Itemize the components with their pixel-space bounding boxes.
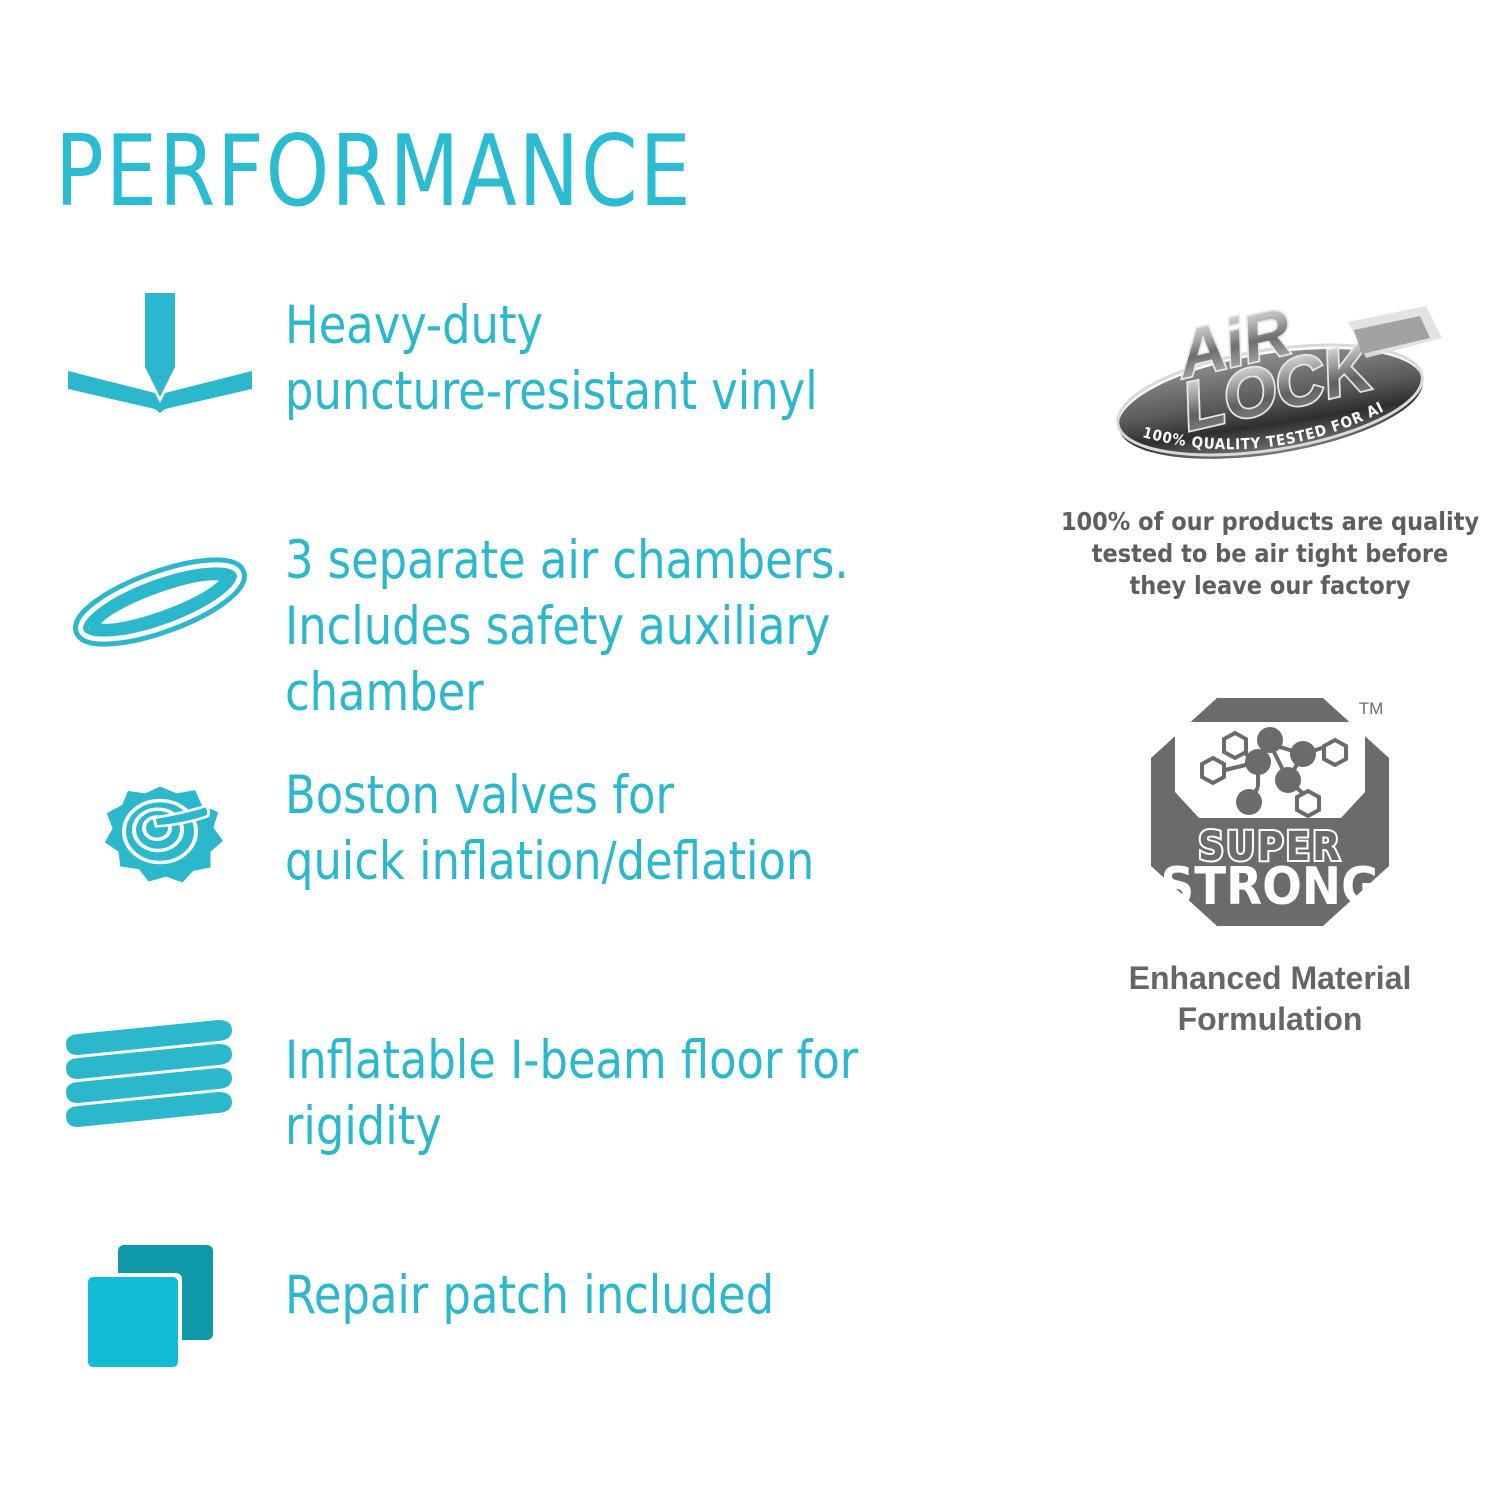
feature-label: 3 separate air chambers. Includes safety…: [285, 528, 1023, 726]
feature-label: Repair patch included: [285, 1263, 774, 1329]
page-title: PERFORMANCE: [55, 122, 693, 222]
boston-valve-icon: [60, 765, 260, 905]
feature-item: Boston valves for quick inflation/deflat…: [0, 755, 1070, 990]
feature-label: Heavy-duty puncture-resistant vinyl: [285, 293, 818, 425]
infographic-page: PERFORMANCE Heavy-duty puncture-resistan…: [0, 0, 1500, 1499]
feature-list: Heavy-duty puncture-resistant vinyl 3 se…: [0, 285, 1070, 1460]
feature-item: 3 separate air chambers. Includes safety…: [0, 520, 1070, 755]
super-strong-badge-block: SUPER STRONG TM Enhanced Material Formul…: [1060, 692, 1480, 1040]
air-chambers-icon: [60, 532, 260, 672]
badge-column: 100% QUALITY TESTED FOR AIR TIGHTNESS Ai…: [1060, 280, 1480, 1130]
feature-item: Repair patch included: [0, 1225, 1070, 1460]
air-lock-badge-block: 100% QUALITY TESTED FOR AIR TIGHTNESS Ai…: [1060, 280, 1480, 602]
trademark-symbol: TM: [1359, 699, 1384, 718]
super-strong-badge: SUPER STRONG TM: [1060, 692, 1480, 932]
puncture-resistant-vinyl-icon: [60, 285, 260, 425]
air-lock-caption: 100% of our products are quality tested …: [1060, 506, 1480, 602]
i-beam-floor-icon: [60, 1000, 260, 1140]
feature-item: Heavy-duty puncture-resistant vinyl: [0, 285, 1070, 520]
repair-patch-icon: [60, 1235, 260, 1375]
super-strong-line2: STRONG: [1161, 857, 1380, 917]
feature-label: Inflatable I-beam floor for rigidity: [285, 1028, 1023, 1160]
air-lock-badge: 100% QUALITY TESTED FOR AIR TIGHTNESS Ai…: [1060, 280, 1480, 480]
feature-item: Inflatable I-beam floor for rigidity: [0, 990, 1070, 1225]
feature-label: Boston valves for quick inflation/deflat…: [285, 763, 814, 895]
super-strong-caption: Enhanced Material Formulation: [1060, 958, 1480, 1040]
